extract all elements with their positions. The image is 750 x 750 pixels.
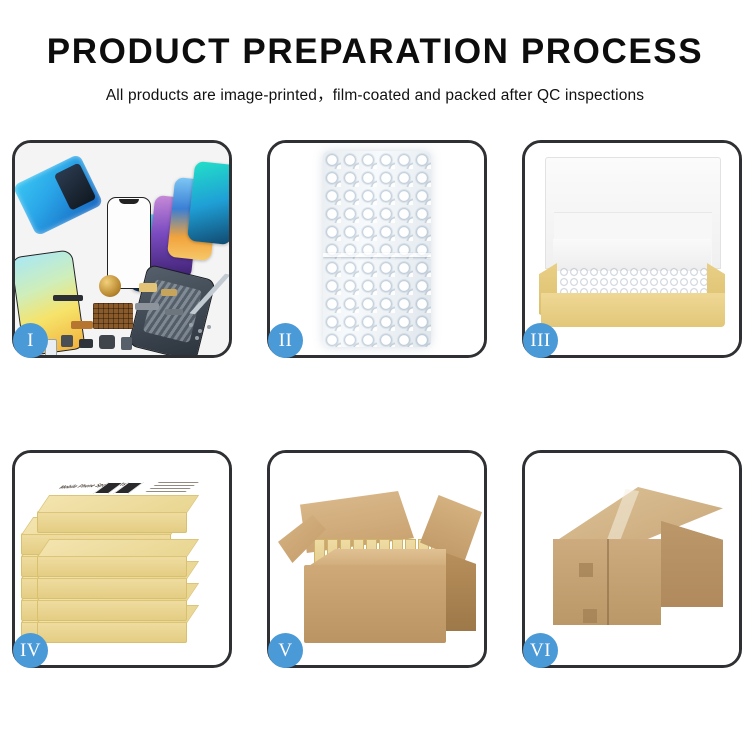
process-step-panel-4: Mobile Phone Spare Parts Mobile Phone Sp…	[12, 450, 232, 668]
spare-part	[139, 283, 157, 292]
page-header: PRODUCT PREPARATION PROCESS All products…	[0, 0, 750, 105]
step-4-image: Mobile Phone Spare Parts Mobile Phone Sp…	[15, 453, 229, 665]
step-badge-3: III	[523, 323, 558, 358]
spare-part	[61, 335, 73, 347]
carton-front-face	[304, 565, 446, 643]
coil-part-illustration	[99, 275, 121, 297]
spare-part	[121, 337, 132, 350]
process-step-panel-6: VI	[522, 450, 742, 668]
step-6-image	[525, 453, 739, 665]
step-1-image	[15, 143, 229, 355]
kraft-box-stack-illustration: Mobile Phone Spare Parts Mobile Phone Sp…	[21, 471, 227, 659]
page-title: PRODUCT PREPARATION PROCESS	[0, 34, 750, 69]
process-step-panel-5: V	[267, 450, 487, 668]
step-3-image	[525, 143, 739, 355]
spare-part	[71, 321, 93, 329]
carton-handle-tab	[583, 609, 597, 623]
process-step-grid: I II III	[12, 140, 742, 668]
carton-edge-seam	[607, 539, 609, 625]
carton-side-face	[446, 553, 476, 631]
kraft-box	[37, 621, 187, 643]
step-badge-5: V	[268, 633, 303, 668]
kraft-box	[37, 599, 187, 621]
spare-part	[165, 309, 183, 315]
spare-part	[79, 339, 93, 348]
step-badge-2: II	[268, 323, 303, 358]
kraft-box-front	[541, 293, 725, 327]
step-badge-1: I	[13, 323, 48, 358]
kraft-box	[37, 577, 187, 599]
phone-teal	[187, 161, 229, 245]
kraft-box-top: Mobile Phone Spare Parts	[37, 511, 187, 533]
process-step-panel-1: I	[12, 140, 232, 358]
process-step-panel-3: III	[522, 140, 742, 358]
sealed-carton-side	[661, 521, 723, 607]
spare-part	[53, 295, 83, 301]
spare-part	[135, 303, 159, 310]
spare-part	[99, 335, 115, 349]
step-5-image	[270, 453, 484, 665]
bubble-wrap-illustration	[323, 151, 431, 347]
kraft-box	[37, 555, 187, 577]
screws-illustration	[189, 323, 215, 341]
step-badge-4: IV	[13, 633, 48, 668]
spare-part	[161, 289, 177, 296]
carton-handle-tab	[579, 563, 593, 577]
page-subtitle: All products are image-printed，film-coat…	[0, 83, 750, 105]
wrap-seam	[323, 253, 431, 257]
step-2-image	[270, 143, 484, 355]
step-badge-6: VI	[523, 633, 558, 668]
chip-grid-illustration	[93, 303, 133, 329]
process-step-panel-2: II	[267, 140, 487, 358]
